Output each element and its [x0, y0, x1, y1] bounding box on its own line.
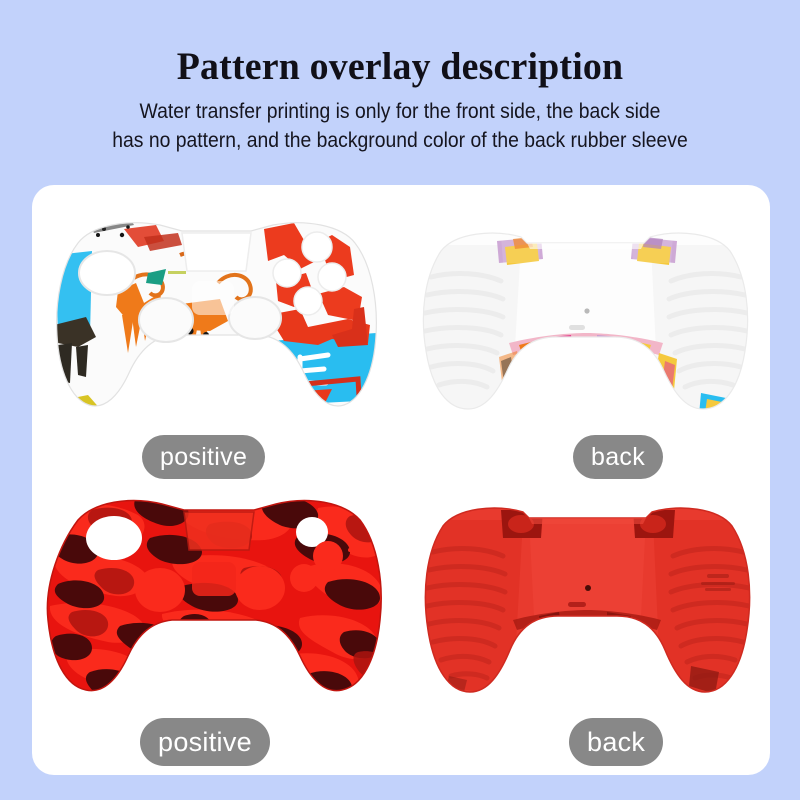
product-tile-graffiti-back: back — [401, 185, 770, 480]
badge-back-graffiti: back — [573, 435, 663, 479]
screw-hole — [585, 585, 591, 591]
badge-back-camo: back — [569, 718, 663, 766]
port-slot — [569, 325, 585, 330]
left-stick-ring — [135, 568, 185, 612]
center-bridge — [529, 518, 646, 524]
touchpad-cutout — [182, 233, 251, 271]
controller-image-graffiti-back — [401, 185, 770, 440]
badge-positive-camo: positive — [140, 718, 270, 766]
right-stick-hole — [139, 298, 193, 342]
header: Pattern overlay description Water transf… — [0, 0, 800, 185]
left-stick-hole — [86, 516, 142, 560]
controller-image-camo-front — [32, 480, 401, 735]
left-stick-hole — [79, 251, 135, 295]
product-tile-graffiti-front: positive — [32, 185, 401, 480]
port-slot — [568, 602, 586, 607]
product-image-card: positive — [32, 185, 770, 775]
subtitle-line-2: has no pattern, and the background color… — [85, 126, 715, 155]
controller-image-graffiti-front — [32, 185, 401, 440]
badge-positive-graffiti: positive — [142, 435, 265, 479]
right-stick-ring — [235, 566, 285, 610]
dpad-cutout — [192, 562, 236, 596]
product-tile-camo-front: positive — [32, 480, 401, 775]
subtitle-line-1: Water transfer printing is only for the … — [85, 97, 715, 126]
product-infographic: Pattern overlay description Water transf… — [0, 0, 800, 800]
screw-hole — [584, 308, 589, 313]
right-stick-hole-2 — [229, 297, 281, 339]
center-bridge — [527, 243, 644, 249]
product-tile-camo-back: back — [401, 480, 770, 775]
page-title: Pattern overlay description — [12, 45, 788, 89]
touchpad-cutout — [184, 512, 254, 550]
controller-image-camo-back — [401, 480, 770, 735]
dpad-cutout — [192, 281, 234, 315]
page-subtitle: Water transfer printing is only for the … — [85, 97, 715, 155]
